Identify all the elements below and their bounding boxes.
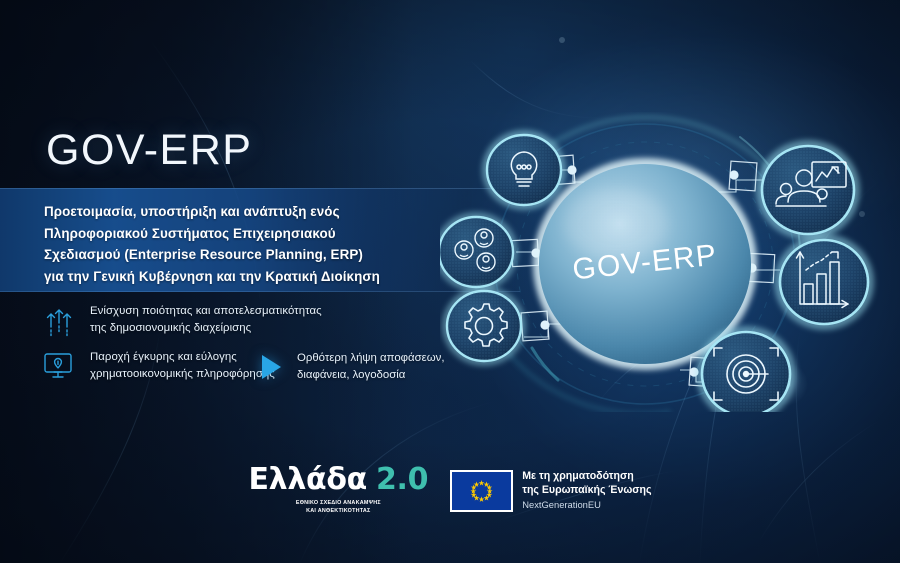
- eu-funding-line-3: NextGenerationEU: [522, 499, 651, 511]
- benefit-quality-line-2: της δημοσιονομικής διαχείρισης: [90, 322, 251, 334]
- hub-node-lightbulb: [482, 130, 566, 210]
- greece-logo-wordmark: Ελλάδα 2.0: [248, 465, 428, 495]
- greece-2-0-logo: Ελλάδα 2.0 ΕΘΝΙΚΟ ΣΧΕΔΙΟ ΑΝΑΚΑΜΨΗΣ ΚΑΙ Α…: [248, 465, 428, 516]
- benefit-item-reporting: Παροχή έγκυρης και εύλογης χρηματοοικονο…: [40, 349, 275, 384]
- description-line-2: Πληροφοριακού Συστήματος Επιχειρησιακού: [44, 223, 464, 245]
- greece-logo-version: 2.0: [376, 465, 428, 495]
- eu-funding-line-1: Με τη χρηματοδότηση: [522, 470, 651, 484]
- description-line-3: Σχεδιασμού (Enterprise Resource Planning…: [44, 244, 464, 266]
- description-line-1: Προετοιμασία, υποστήριξη και ανάπτυξη εν…: [44, 201, 464, 223]
- greece-logo-word: Ελλάδα: [248, 465, 367, 495]
- eu-funding-text: Με τη χρηματοδότηση της Ευρωπαϊκής Ένωση…: [522, 470, 651, 511]
- hub-node-network-people: [440, 212, 518, 292]
- benefit-item-quality: Ενίσχυση ποιότητας και αποτελεσματικότητ…: [40, 303, 322, 338]
- outcome-line-1: Ορθότερη λήψη αποφάσεων,: [297, 352, 445, 364]
- eu-funding-line-2: της Ευρωπαϊκής Ένωσης: [522, 484, 651, 498]
- benefit-reporting-line-1: Παροχή έγκυρης και εύλογης: [90, 351, 237, 363]
- hub-node-presentation-chart: [756, 140, 860, 240]
- outcome-item: Ορθότερη λήψη αποφάσεων, διαφάνεια, λογο…: [262, 350, 445, 385]
- gov-erp-banner-slide: GOV-ERP Προετοιμασία, υποστήριξη και ανά…: [0, 0, 900, 563]
- monitor-info-icon: [40, 347, 76, 383]
- play-triangle-icon: [262, 355, 281, 379]
- page-title: GOV-ERP: [46, 126, 252, 175]
- benefit-text-quality: Ενίσχυση ποιότητας και αποτελεσματικότητ…: [90, 303, 322, 338]
- description-text: Προετοιμασία, υποστήριξη και ανάπτυξη εν…: [44, 201, 464, 288]
- greece-logo-subtitle-line-2: ΚΑΙ ΑΝΘΕΚΤΙΚΟΤΗΤΑΣ: [296, 508, 381, 516]
- outcome-line-2: διαφάνεια, λογοδοσία: [297, 369, 405, 381]
- benefit-quality-line-1: Ενίσχυση ποιότητας και αποτελεσματικότητ…: [90, 305, 322, 317]
- eu-flag-icon: [450, 470, 513, 512]
- footer-logos: Ελλάδα 2.0 ΕΘΝΙΚΟ ΣΧΕΔΙΟ ΑΝΑΚΑΜΨΗΣ ΚΑΙ Α…: [0, 465, 900, 516]
- description-line-4: για την Γενική Κυβέρνηση και την Κρατική…: [44, 266, 464, 288]
- greece-logo-subtitle: ΕΘΝΙΚΟ ΣΧΕΔΙΟ ΑΝΑΚΑΜΨΗΣ ΚΑΙ ΑΝΘΕΚΤΙΚΟΤΗΤ…: [296, 500, 381, 516]
- gov-erp-hub-graphic: GOV-ERP: [440, 112, 900, 412]
- hub-node-bar-chart: [774, 234, 874, 330]
- benefit-reporting-line-2: χρηματοοικονομικής πληροφόρησης: [90, 368, 275, 380]
- hub-node-gear: [442, 286, 526, 366]
- greece-logo-subtitle-line-1: ΕΘΝΙΚΟ ΣΧΕΔΙΟ ΑΝΑΚΑΜΨΗΣ: [296, 500, 381, 508]
- benefit-text-reporting: Παροχή έγκυρης και εύλογης χρηματοοικονο…: [90, 349, 275, 384]
- outcome-text: Ορθότερη λήψη αποφάσεων, διαφάνεια, λογο…: [297, 350, 445, 385]
- eu-funding-logo: Με τη χρηματοδότηση της Ευρωπαϊκής Ένωση…: [450, 470, 651, 512]
- upward-arrows-icon: [40, 301, 76, 337]
